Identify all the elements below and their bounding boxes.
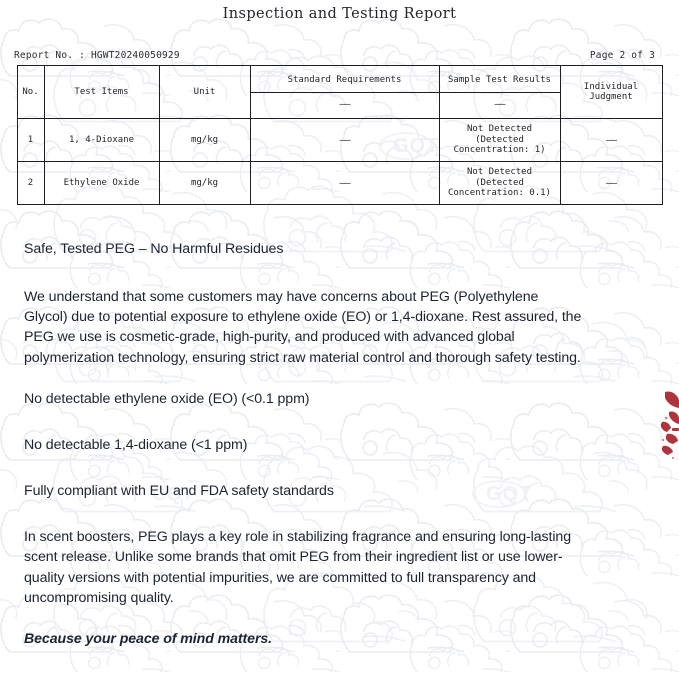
row-result-sub-line1: (Detected xyxy=(443,178,557,189)
row-test-item: 1, 4-Dioxane xyxy=(44,119,159,162)
row-result-sub-line2: Concentration: 1) xyxy=(443,145,557,156)
row-result-sub-line1: (Detected xyxy=(443,135,557,146)
col-header-standard-requirements-value: —— xyxy=(251,93,439,117)
report-number: Report No. : HGWT20240050929 xyxy=(14,50,180,61)
marketing-heading: Safe, Tested PEG – No Harmful Residues xyxy=(24,239,584,259)
inspection-report-section: Inspection and Testing Report Report No.… xyxy=(0,0,679,205)
row-test-item: Ethylene Oxide xyxy=(44,162,159,205)
col-header-individual-judgment: Individual Judgment xyxy=(560,66,662,119)
row-result-title: Not Detected xyxy=(443,167,557,178)
page-indicator: Page 2 of 3 xyxy=(590,50,663,61)
row-result-sub-line2: Concentration: 0.1) xyxy=(443,188,557,199)
report-meta-row: Report No. : HGWT20240050929 Page 2 of 3 xyxy=(0,22,679,65)
table-row: 2 Ethylene Oxide mg/kg —— Not Detected (… xyxy=(17,162,662,205)
col-header-no: No. xyxy=(17,66,44,119)
col-header-test-items: Test Items xyxy=(44,66,159,119)
col-header-individual-judgment-line1: Individual xyxy=(564,82,659,92)
row-standard-requirement: —— xyxy=(250,162,439,205)
table-row: 1 1, 4-Dioxane mg/kg —— Not Detected (De… xyxy=(17,119,662,162)
marketing-role-paragraph: In scent boosters, PEG plays a key role … xyxy=(24,527,584,608)
claim-no-dioxane: No detectable 1,4-dioxane (<1 ppm) xyxy=(24,435,584,455)
col-header-unit: Unit xyxy=(159,66,250,119)
report-number-value: HGWT20240050929 xyxy=(91,50,180,61)
row-unit: mg/kg xyxy=(159,119,250,162)
row-individual-judgment: —— xyxy=(560,162,662,205)
marketing-intro-paragraph: We understand that some customers may ha… xyxy=(24,287,584,368)
row-standard-requirement: —— xyxy=(250,119,439,162)
claim-no-ethylene-oxide: No detectable ethylene oxide (EO) (<0.1 … xyxy=(24,389,584,409)
marketing-closing-line: Because your peace of mind matters. xyxy=(24,629,584,649)
row-result-title: Not Detected xyxy=(443,124,557,135)
col-header-standard-requirements-label: Standard Requirements xyxy=(251,68,439,93)
marketing-copy-section: Safe, Tested PEG – No Harmful Residues W… xyxy=(0,205,679,649)
report-number-label: Report No. : xyxy=(14,50,85,61)
row-sample-test-result: Not Detected (Detected Concentration: 0.… xyxy=(439,162,560,205)
row-individual-judgment: —— xyxy=(560,119,662,162)
col-header-individual-judgment-line2: Judgment xyxy=(564,92,659,102)
test-results-table: No. Test Items Unit Standard Requirement… xyxy=(17,65,663,205)
row-unit: mg/kg xyxy=(159,162,250,205)
row-sample-test-result: Not Detected (Detected Concentration: 1) xyxy=(439,119,560,162)
col-header-sample-test-results: Sample Test Results —— xyxy=(439,66,560,119)
col-header-standard-requirements: Standard Requirements —— xyxy=(250,66,439,119)
table-header-row: No. Test Items Unit Standard Requirement… xyxy=(17,66,662,119)
claim-compliance: Fully compliant with EU and FDA safety s… xyxy=(24,481,584,501)
report-title: Inspection and Testing Report xyxy=(0,0,679,22)
col-header-sample-test-results-label: Sample Test Results xyxy=(440,68,560,93)
row-no: 1 xyxy=(17,119,44,162)
col-header-sample-test-results-value: —— xyxy=(440,93,560,117)
row-no: 2 xyxy=(17,162,44,205)
